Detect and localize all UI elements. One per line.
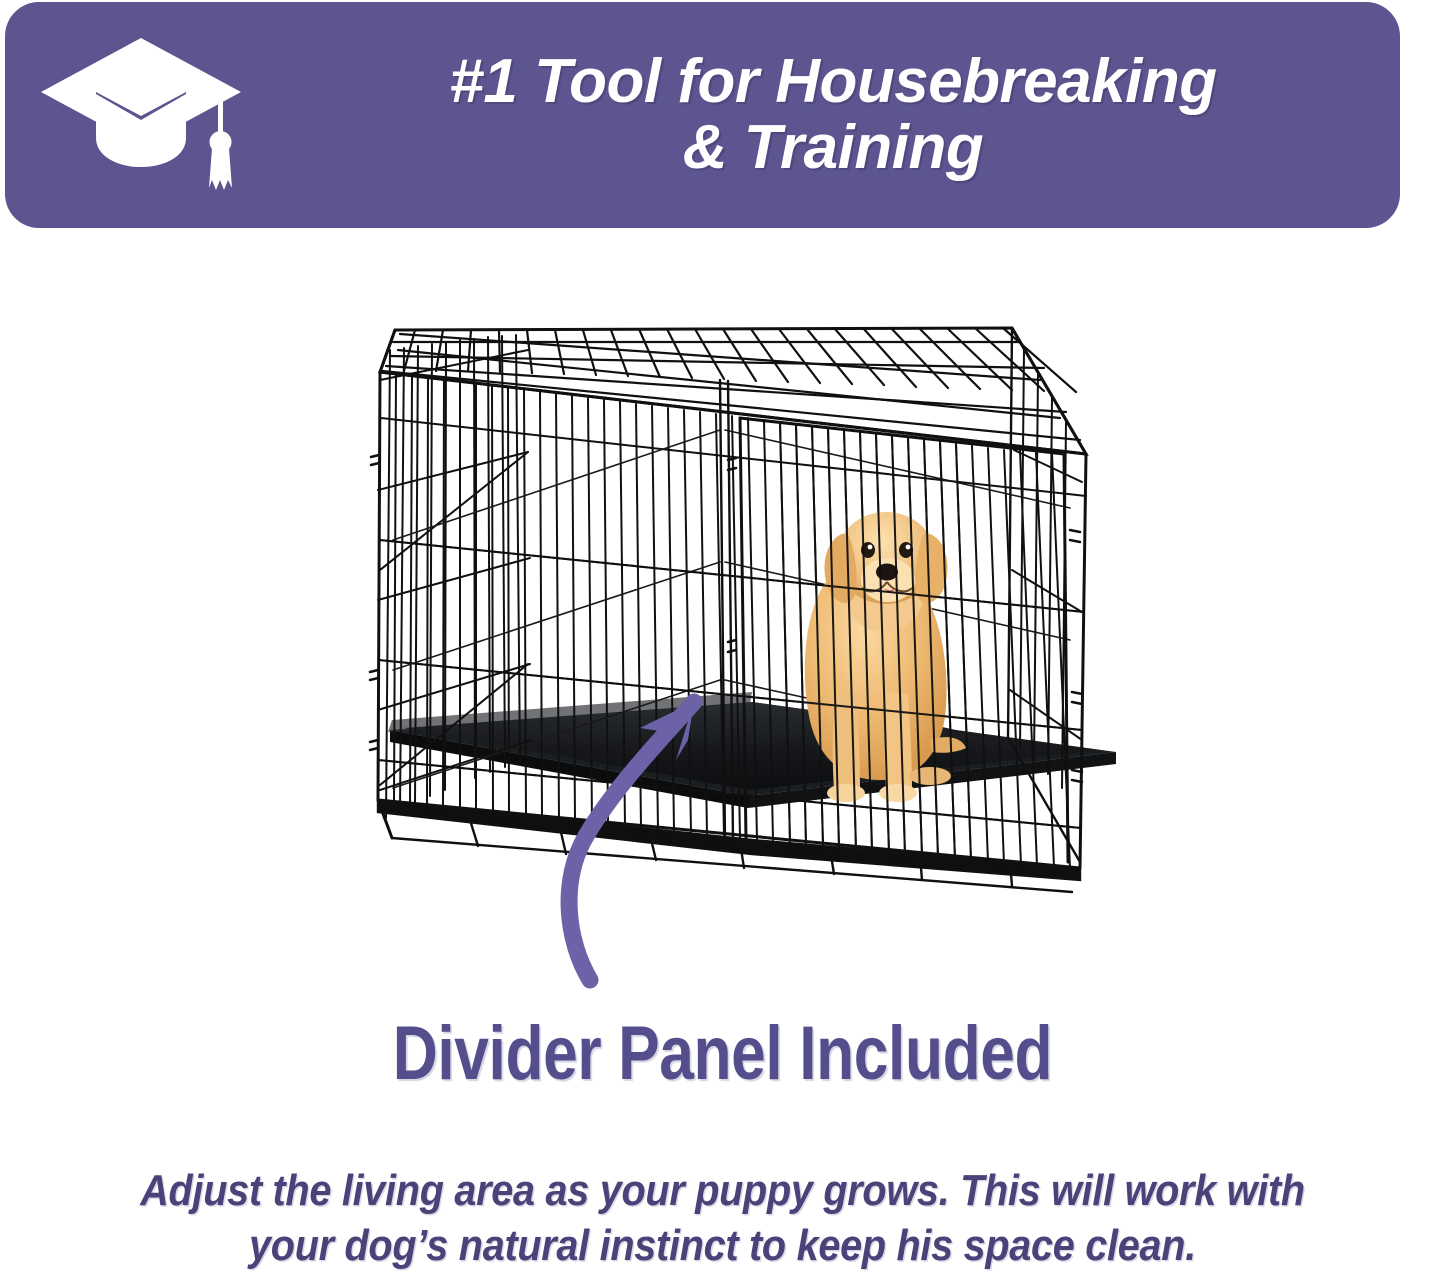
wire-crate [370, 328, 1086, 892]
graduation-cap-icon [33, 30, 273, 200]
banner-headline-line-1: #1 Tool for Housebreaking [449, 49, 1216, 115]
page-caption: Adjust the living area as your puppy gro… [117, 1163, 1328, 1273]
product-photo [0, 240, 1445, 1000]
banner-headline-line-2: & Training [683, 115, 983, 181]
caption-line-1: Adjust the living area as your puppy gro… [117, 1163, 1328, 1218]
banner-headline: #1 Tool for Housebreaking & Training [283, 12, 1383, 218]
crate-base-frame [378, 800, 1080, 892]
caption-line-2: your dog’s natural instinct to keep his … [117, 1218, 1328, 1273]
page-headline: Divider Panel Included [130, 1016, 1315, 1092]
header-banner: #1 Tool for Housebreaking & Training [5, 2, 1400, 228]
